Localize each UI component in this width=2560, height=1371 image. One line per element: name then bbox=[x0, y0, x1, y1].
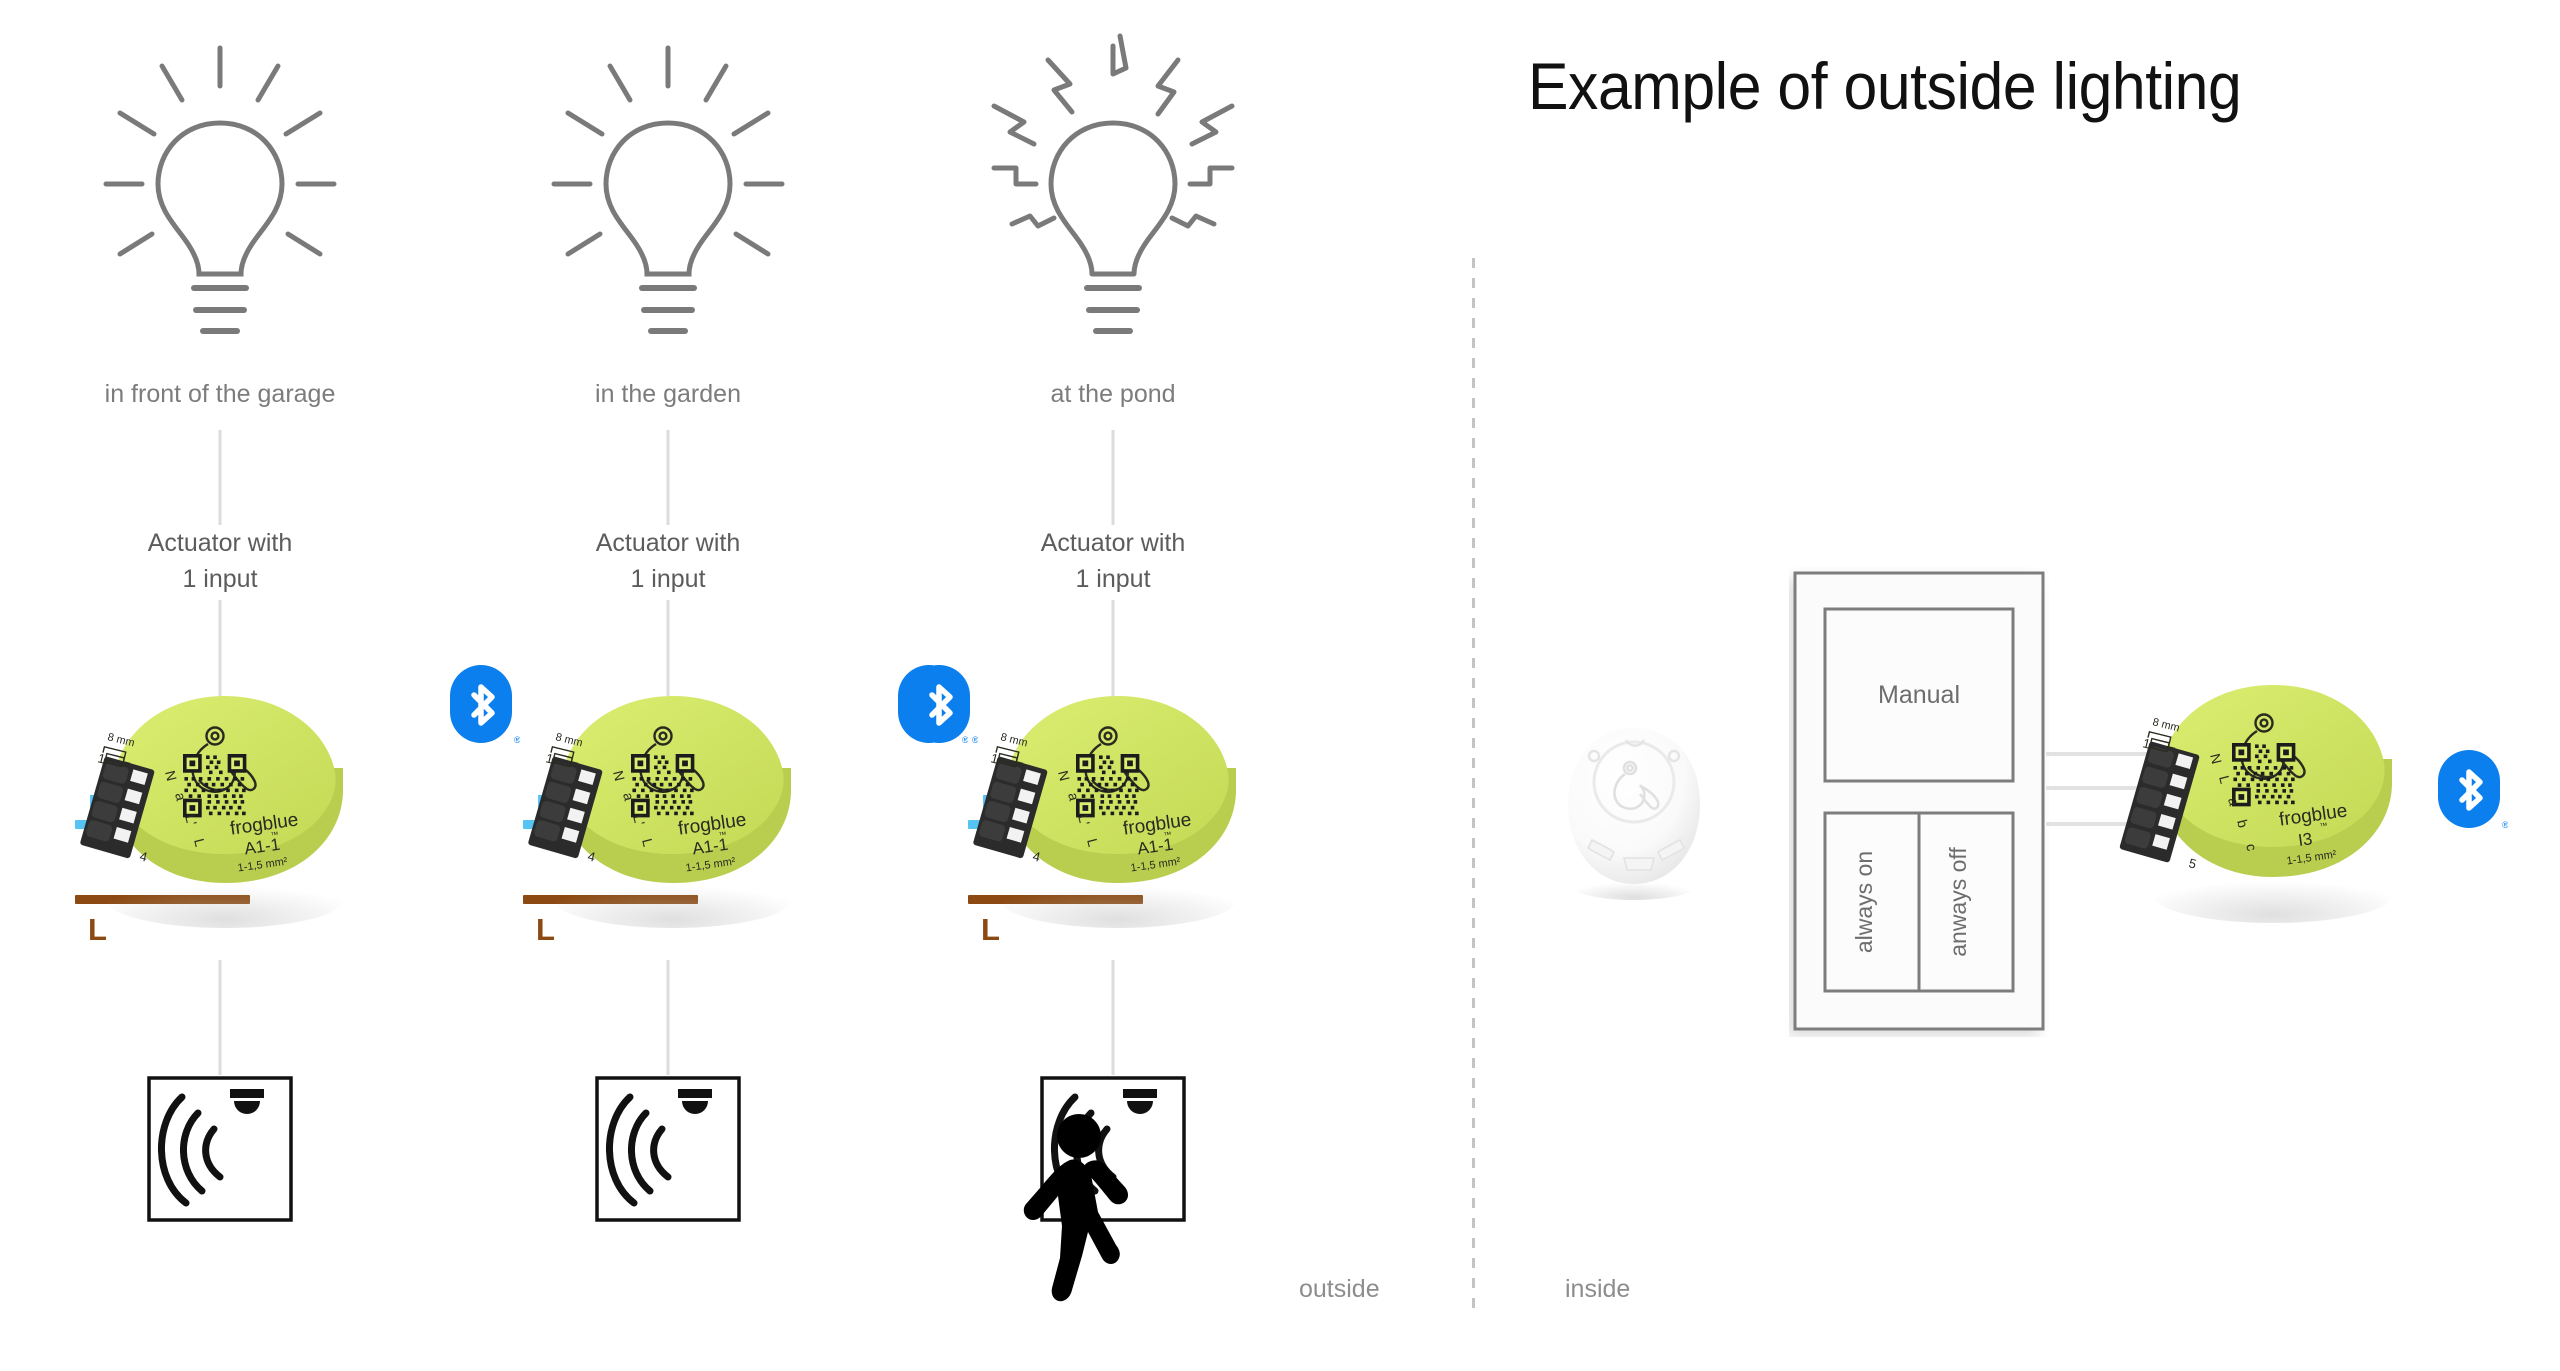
module-strip-length-text: 8 mm bbox=[999, 731, 1029, 749]
lamp-caption-garden: in the garden bbox=[595, 380, 741, 409]
bluetooth-badge-pond: ® bbox=[906, 663, 978, 751]
zone-label-inside: inside bbox=[1565, 1275, 1630, 1304]
page-title: Example of outside lighting bbox=[1528, 48, 2241, 124]
switch-button-always-on-label: always on bbox=[1851, 851, 1877, 953]
actuator-module-garage[interactable]: frogblue ™ A1-1 1-1,5 mm² bbox=[75, 668, 365, 938]
switch-plate[interactable]: Manual always on anways off bbox=[1789, 567, 2049, 1037]
bluetooth-badge-inside: ® bbox=[2436, 748, 2508, 836]
connector-line-lamp-to-actuator bbox=[1112, 430, 1115, 525]
actuator-module-pond[interactable]: frogblue ™ A1-1 1-1,5 mm² 8 mm bbox=[968, 668, 1258, 938]
svg-text:®: ® bbox=[2502, 820, 2508, 830]
actuator-caption-line2: 1 input bbox=[182, 565, 257, 593]
lamp-icon-garden bbox=[538, 28, 798, 348]
lamp-caption-pond: at the pond bbox=[1050, 380, 1175, 409]
remote-key-fob[interactable] bbox=[1548, 718, 1718, 903]
input-module-strip-length-text: 8 mm bbox=[2151, 716, 2181, 734]
input-module-model-text: I3 bbox=[2297, 829, 2314, 850]
lamp-icon-garage bbox=[90, 28, 350, 348]
motion-sensor-garden[interactable] bbox=[594, 1075, 742, 1223]
actuator-caption-line2: 1 input bbox=[630, 565, 705, 593]
actuator-caption-garden: Actuator with 1 input bbox=[590, 525, 747, 597]
walking-person-icon bbox=[1022, 1108, 1142, 1308]
actuator-caption-garage: Actuator with 1 input bbox=[142, 525, 299, 597]
module-strip-length-text: 8 mm bbox=[554, 731, 584, 749]
actuator-caption-line1: Actuator with bbox=[1041, 529, 1186, 557]
connector-line-module-to-sensor bbox=[219, 960, 222, 1075]
input-module-i3[interactable]: frogblue ™ I3 1-1,5 mm² 8 mm 1 5 N L bbox=[2118, 655, 2418, 935]
lamp-caption-garage: in front of the garage bbox=[105, 380, 336, 409]
module-strip-length-text: 8 mm bbox=[106, 731, 136, 749]
switch-button-anways-off-label: anways off bbox=[1945, 847, 1971, 957]
lighting-group-garden: in the garden Actuator with 1 input N L bbox=[448, 0, 888, 1371]
connector-line-lamp-to-actuator bbox=[667, 430, 670, 525]
connector-line-lamp-to-actuator bbox=[219, 430, 222, 525]
connector-line-module-to-sensor bbox=[1112, 960, 1115, 1075]
svg-text:®: ® bbox=[972, 735, 978, 745]
connector-line-module-to-sensor bbox=[667, 960, 670, 1075]
actuator-module-garden[interactable]: frogblue ™ A1-1 1-1,5 mm² 8 mm bbox=[523, 668, 813, 938]
actuator-caption-line2: 1 input bbox=[1075, 565, 1150, 593]
actuator-caption-line1: Actuator with bbox=[596, 529, 741, 557]
input-module-pin-last-text: 5 bbox=[2187, 855, 2198, 871]
lamp-icon-pond bbox=[968, 28, 1258, 348]
outside-inside-divider bbox=[1472, 258, 1475, 1308]
switch-button-manual-label: Manual bbox=[1878, 681, 1960, 709]
lighting-group-garage: in front of the garage Actuator with 1 i… bbox=[0, 0, 440, 1371]
svg-text:™: ™ bbox=[2319, 821, 2328, 831]
actuator-caption-pond: Actuator with 1 input bbox=[1035, 525, 1192, 597]
motion-sensor-garage[interactable] bbox=[146, 1075, 294, 1223]
actuator-caption-line1: Actuator with bbox=[148, 529, 293, 557]
